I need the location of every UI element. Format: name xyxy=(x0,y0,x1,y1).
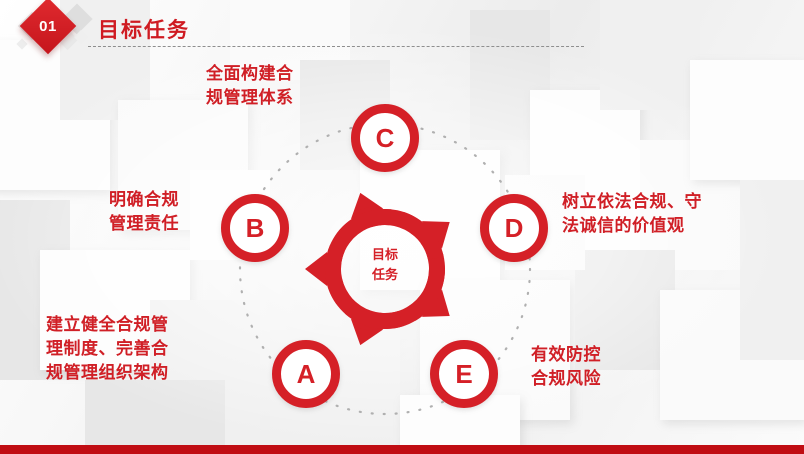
node-letter-a: A xyxy=(297,361,316,387)
node-circle-e[interactable]: E xyxy=(430,340,498,408)
caption-a-line1: 建立健全合规管 xyxy=(46,313,226,337)
caption-e-line1: 有效防控 xyxy=(531,343,681,367)
node-letter-d: D xyxy=(505,215,524,241)
caption-b: 明确合规 管理责任 xyxy=(109,188,229,236)
caption-a-line3: 规管理组织架构 xyxy=(46,361,226,385)
node-letter-c: C xyxy=(376,125,395,151)
caption-a: 建立健全合规管 理制度、完善合 规管理组织架构 xyxy=(46,313,226,385)
node-circle-c[interactable]: C xyxy=(351,104,419,172)
caption-d-line2: 法诚信的价值观 xyxy=(562,214,762,238)
slide-canvas: 01 目标任务 xyxy=(0,0,804,454)
caption-d-line1: 树立依法合规、守 xyxy=(562,190,762,214)
center-label-line2: 任务 xyxy=(352,265,418,285)
caption-c: 全面构建合 规管理体系 xyxy=(206,62,376,110)
caption-e: 有效防控 合规风险 xyxy=(531,343,681,391)
caption-b-line2: 管理责任 xyxy=(109,212,229,236)
node-circle-d[interactable]: D xyxy=(480,194,548,262)
caption-b-line1: 明确合规 xyxy=(109,188,229,212)
footer-bar xyxy=(0,445,804,454)
node-circle-a[interactable]: A xyxy=(272,340,340,408)
caption-c-line1: 全面构建合 xyxy=(206,62,376,86)
caption-e-line2: 合规风险 xyxy=(531,367,681,391)
node-letter-e: E xyxy=(455,361,472,387)
caption-a-line2: 理制度、完善合 xyxy=(46,337,226,361)
node-circle-b[interactable]: B xyxy=(221,194,289,262)
center-label: 目标 任务 xyxy=(352,245,418,285)
node-letter-b: B xyxy=(246,215,265,241)
caption-c-line2: 规管理体系 xyxy=(206,86,376,110)
caption-d: 树立依法合规、守 法诚信的价值观 xyxy=(562,190,762,238)
center-label-line1: 目标 xyxy=(352,245,418,265)
